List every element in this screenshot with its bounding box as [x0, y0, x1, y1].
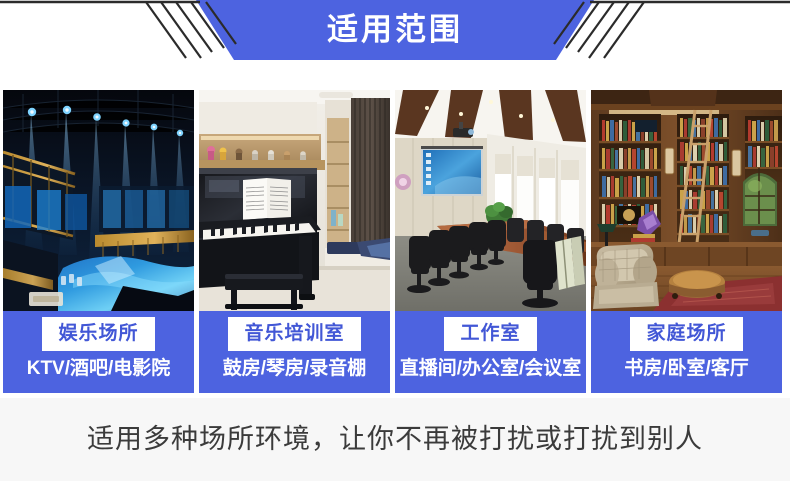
scenario-chip: 工作室: [444, 317, 536, 351]
scenario-card-home[interactable]: 家庭场所 书房/卧室/客厅: [591, 90, 782, 393]
piano-room-photo: [199, 90, 390, 311]
scenario-chip: 家庭场所: [630, 317, 742, 351]
label-block-home: 家庭场所 书房/卧室/客厅: [591, 311, 782, 393]
scenario-card-workspace[interactable]: 工作室 直播间/办公室/会议室: [395, 90, 586, 393]
conference-room-photo: [395, 90, 586, 311]
scenario-subtitle: 直播间/办公室/会议室: [400, 359, 582, 378]
page-title: 适用范围: [0, 0, 790, 60]
home-library-photo: [591, 90, 782, 311]
header-banner: 适用范围: [0, 0, 790, 72]
label-block-music-room: 音乐培训室 鼓房/琴房/录音棚: [199, 311, 390, 393]
scenario-card-entertainment[interactable]: 娱乐场所 KTV/酒吧/电影院: [3, 90, 194, 393]
label-block-entertainment: 娱乐场所 KTV/酒吧/电影院: [3, 311, 194, 393]
scenario-chip: 音乐培训室: [228, 317, 360, 351]
label-block-workspace: 工作室 直播间/办公室/会议室: [395, 311, 586, 393]
scenario-card-music-room[interactable]: 音乐培训室 鼓房/琴房/录音棚: [199, 90, 390, 393]
scenario-card-grid: 娱乐场所 KTV/酒吧/电影院: [3, 90, 787, 393]
scenario-chip: 娱乐场所: [42, 317, 154, 351]
scenario-subtitle: 鼓房/琴房/录音棚: [223, 359, 367, 378]
scenario-subtitle: KTV/酒吧/电影院: [27, 359, 171, 378]
footer-banner: 适用多种场所环境，让你不再被打扰或打扰到别人: [0, 398, 790, 481]
nightclub-ktv-photo: [3, 90, 194, 311]
footer-tagline: 适用多种场所环境，让你不再被打扰或打扰到别人: [87, 426, 703, 453]
scenario-subtitle: 书房/卧室/客厅: [624, 359, 749, 378]
